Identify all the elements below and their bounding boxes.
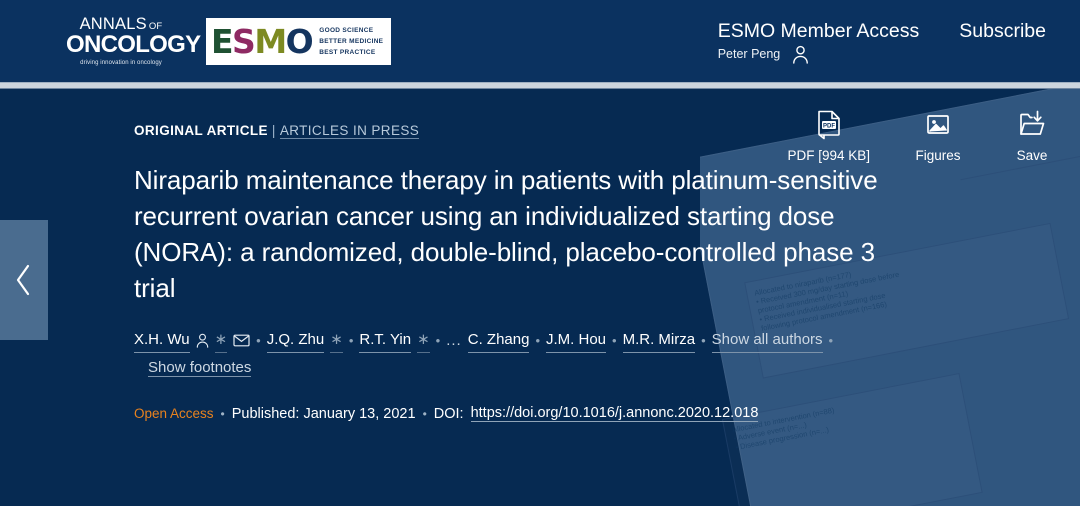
member-access-label[interactable]: ESMO Member Access (718, 19, 920, 43)
published-date: Published: January 13, 2021 (232, 406, 416, 422)
show-all-authors-link[interactable]: Show all authors (712, 328, 823, 353)
logo-tagline: driving innovation in oncology (66, 60, 176, 66)
esmo-letter-e: E (211, 22, 232, 61)
author-separator: • (535, 329, 540, 353)
esmo-letter-o: O (286, 22, 313, 61)
meta-separator: • (221, 407, 225, 421)
header-right-group: ESMO Member Access Peter Peng Subscribe (718, 19, 1046, 64)
doi-link[interactable]: https://doi.org/10.1016/j.annonc.2020.12… (471, 405, 759, 422)
esmo-slogan-line-1: GOOD SCIENCE (319, 25, 383, 36)
logo-line-annals: ANNALS OF (66, 16, 176, 33)
author-link[interactable]: C. Zhang (468, 328, 530, 353)
previous-article-tab[interactable] (0, 220, 48, 340)
author-separator: • (349, 329, 354, 353)
article-tools: PDF PDF [994 KB] Figures Save (787, 110, 1058, 163)
author-link[interactable]: X.H. Wu (134, 328, 190, 353)
image-icon (925, 110, 951, 140)
author-affiliation-icon[interactable] (196, 333, 209, 348)
author-link[interactable]: R.T. Yin (359, 328, 411, 353)
user-name: Peter Peng (718, 47, 781, 61)
author-separator: • (256, 329, 261, 353)
logo-text-annals: ANNALS (80, 16, 147, 33)
author-list: X.H. Wu ∗ • J.Q. Zhu ∗ • R.T. Yin ∗ • ..… (134, 328, 924, 353)
subscribe-link[interactable]: Subscribe (959, 19, 1046, 43)
author-separator: • (829, 329, 834, 353)
open-access-badge[interactable]: Open Access (134, 406, 214, 421)
logo-text-oncology: ONCOLOGY (66, 33, 176, 57)
page-title: Niraparib maintenance therapy in patient… (134, 162, 914, 306)
articles-in-press-link[interactable]: ARTICLES IN PRESS (280, 123, 419, 139)
header-divider (0, 82, 1080, 89)
chevron-left-icon (14, 263, 34, 297)
esmo-slogan-line-2: BETTER MEDICINE (319, 36, 383, 47)
download-pdf-button[interactable]: PDF PDF [994 KB] (787, 110, 870, 163)
esmo-slogan-line-3: BEST PRACTICE (319, 47, 383, 58)
esmo-slogan: GOOD SCIENCE BETTER MEDICINE BEST PRACTI… (319, 25, 386, 58)
save-folder-icon (1018, 110, 1046, 140)
breadcrumb-divider: | (272, 123, 276, 138)
author-email-icon[interactable] (233, 334, 250, 347)
figures-label: Figures (915, 148, 960, 163)
author-link[interactable]: J.M. Hou (546, 328, 606, 353)
meta-separator: • (423, 407, 427, 421)
article-type-label: ORIGINAL ARTICLE (134, 123, 268, 138)
svg-text:PDF: PDF (823, 124, 835, 130)
user-account-icon[interactable] (792, 45, 809, 64)
author-footnote-marker[interactable]: ∗ (215, 328, 228, 353)
esmo-wordmark: ESMO (211, 25, 312, 58)
author-link[interactable]: M.R. Mirza (623, 328, 696, 353)
author-link[interactable]: J.Q. Zhu (267, 328, 325, 353)
doi-label: DOI: (434, 406, 464, 422)
figures-button[interactable]: Figures (912, 110, 964, 163)
annals-of-oncology-logo[interactable]: ANNALS OF ONCOLOGY driving innovation in… (66, 16, 176, 67)
esmo-letter-m: M (254, 22, 285, 61)
save-button[interactable]: Save (1006, 110, 1058, 163)
save-label: Save (1017, 148, 1048, 163)
user-row[interactable]: Peter Peng (718, 45, 920, 64)
author-separator: • (436, 329, 441, 353)
esmo-letter-s: S (232, 22, 254, 61)
author-footnote-marker[interactable]: ∗ (330, 328, 343, 353)
author-separator: • (701, 329, 706, 353)
member-access-block[interactable]: ESMO Member Access Peter Peng (718, 19, 920, 64)
author-ellipsis: ... (446, 329, 462, 353)
author-footnote-marker[interactable]: ∗ (417, 328, 430, 353)
pdf-file-icon: PDF (816, 110, 842, 140)
show-footnotes-link[interactable]: Show footnotes (148, 359, 251, 377)
article-meta: Open Access • Published: January 13, 202… (134, 405, 1080, 422)
author-separator: • (612, 329, 617, 353)
logo-text-of: OF (149, 22, 163, 32)
download-pdf-label: PDF [994 KB] (787, 148, 870, 163)
site-header: ANNALS OF ONCOLOGY driving innovation in… (0, 0, 1080, 82)
esmo-logo[interactable]: ESMO GOOD SCIENCE BETTER MEDICINE BEST P… (206, 18, 391, 65)
